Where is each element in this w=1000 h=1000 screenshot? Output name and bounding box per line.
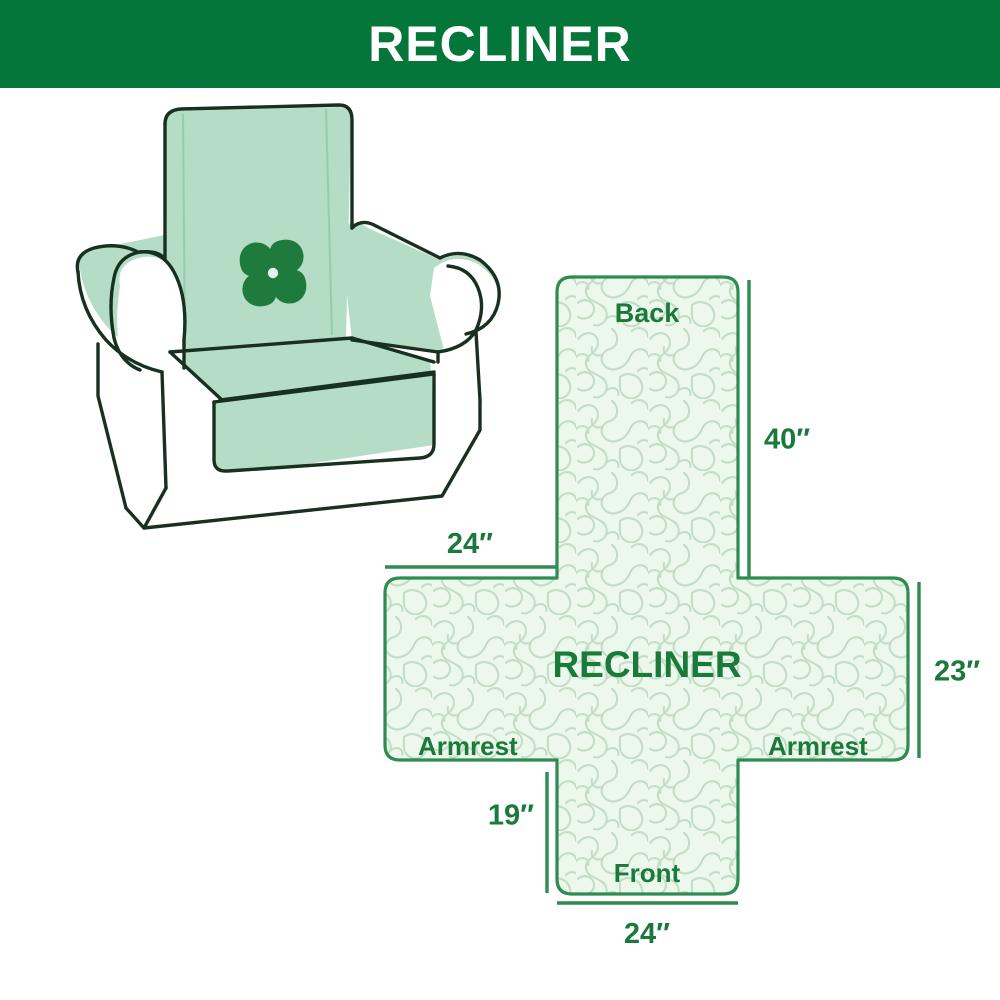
pinwheel-fan-logo xyxy=(240,240,307,307)
cover-pattern-diagram: Back RECLINER Armrest Armrest Front 40″ … xyxy=(360,255,1000,955)
page-title: RECLINER xyxy=(368,19,632,69)
dimension-front-width: 24″ xyxy=(557,903,738,950)
dimension-arm-width: 24″ xyxy=(385,528,556,567)
dimension-value-24-bottom: 24″ xyxy=(624,918,670,950)
header-bar: RECLINER xyxy=(0,0,1000,88)
panel-label-armrest-right: Armrest xyxy=(768,731,868,761)
dimension-value-19: 19″ xyxy=(488,800,534,832)
panel-label-armrest-left: Armrest xyxy=(418,731,518,761)
dimension-front-height: 19″ xyxy=(488,772,547,893)
panel-label-back: Back xyxy=(615,298,681,328)
product-dimension-infographic: RECLINER xyxy=(0,0,1000,1000)
dimension-arm-height: 23″ xyxy=(919,582,980,758)
dimension-value-24-top: 24″ xyxy=(447,528,493,560)
dimension-value-40: 40″ xyxy=(764,424,810,456)
panel-label-front: Front xyxy=(614,858,681,888)
cover-back-panel xyxy=(165,107,351,352)
dimension-back-height: 40″ xyxy=(749,280,810,577)
cover-cross-outline xyxy=(385,277,908,894)
dimension-value-23: 23″ xyxy=(934,656,980,688)
pattern-center-label: RECLINER xyxy=(552,644,741,685)
